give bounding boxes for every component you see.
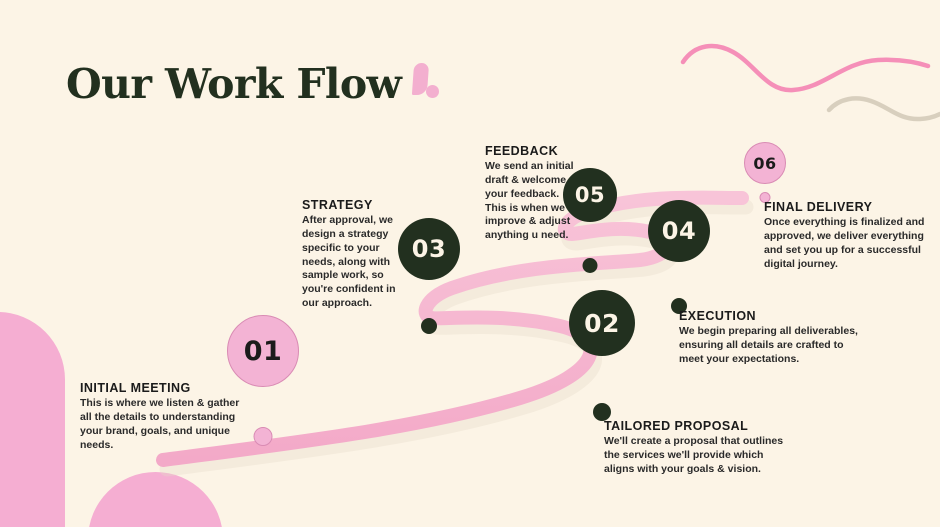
page-title-group: Our Work Flow [66, 63, 441, 105]
decorative-blob-bottom [88, 472, 223, 527]
pin-head: 04 [648, 200, 710, 262]
step-body: Once everything is finalized and approve… [764, 216, 932, 271]
step-title: INITIAL MEETING [80, 381, 250, 395]
step-text-04: EXECUTION We begin preparing all deliver… [679, 309, 869, 367]
step-text-05: FEEDBACK We send an initial draft & welc… [485, 144, 577, 243]
pin-tip [583, 258, 598, 273]
flourish-dot [426, 85, 439, 98]
stylized-l-glyph-icon [411, 63, 441, 105]
workflow-infographic: 01 02 03 04 05 06 INITIAL MEETING This i… [0, 0, 940, 527]
decorative-blob-left [0, 312, 65, 527]
step-body: This is where we listen & gather all the… [80, 397, 250, 452]
step-title: STRATEGY [302, 198, 402, 212]
step-title: TAILORED PROPOSAL [604, 419, 789, 433]
pin-head: 02 [569, 290, 635, 356]
step-text-02: TAILORED PROPOSAL We'll create a proposa… [604, 419, 789, 477]
step-title: EXECUTION [679, 309, 869, 323]
page-title: Our Work Flow [66, 64, 401, 105]
pin-tip [421, 318, 437, 334]
step-pin-03[interactable]: 03 [398, 218, 460, 336]
step-body: We begin preparing all deliverables, ens… [679, 325, 869, 367]
step-title: FEEDBACK [485, 144, 577, 158]
step-body: We send an initial draft & welcome your … [485, 160, 577, 243]
pin-head: 03 [398, 218, 460, 280]
step-text-06: FINAL DELIVERY Once everything is finali… [764, 200, 932, 271]
pin-tip [254, 427, 273, 446]
pin-head: 01 [227, 315, 299, 387]
step-body: We'll create a proposal that outlines th… [604, 435, 789, 477]
step-pin-02[interactable]: 02 [569, 290, 635, 422]
step-title: FINAL DELIVERY [764, 200, 932, 214]
step-text-03: STRATEGY After approval, we design a str… [302, 198, 402, 311]
step-pin-04[interactable]: 04 [648, 200, 710, 318]
step-text-01: INITIAL MEETING This is where we listen … [80, 381, 250, 452]
step-body: After approval, we design a strategy spe… [302, 214, 402, 311]
step-pin-06[interactable]: 06 [744, 142, 786, 204]
pin-head: 06 [744, 142, 786, 184]
